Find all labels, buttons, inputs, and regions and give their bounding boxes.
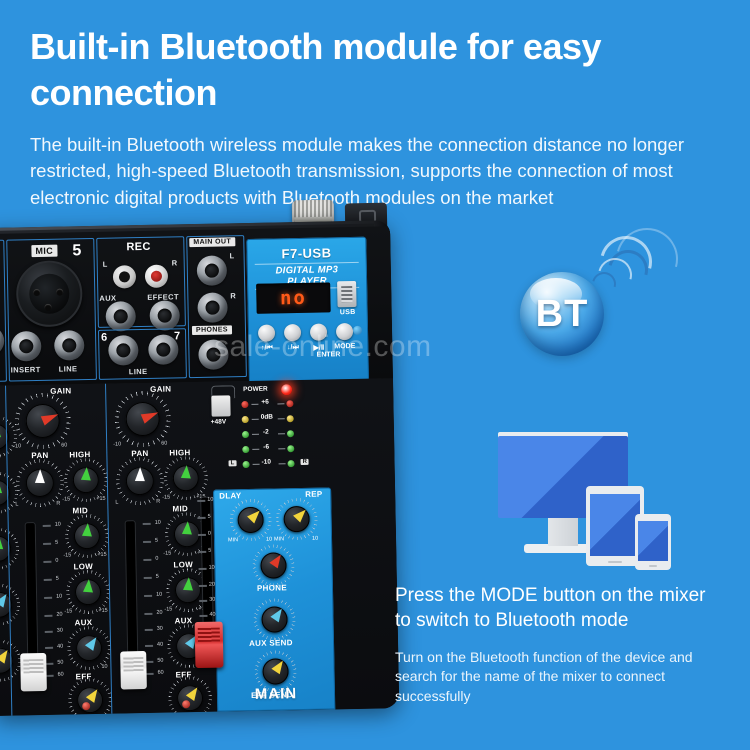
main-out-label: MAIN OUT <box>189 237 235 247</box>
meter-left-led-minus2 <box>242 431 249 438</box>
rec-label: REC <box>126 241 151 253</box>
compatible-devices-illustration <box>498 432 676 570</box>
control-surface: HIGH MID LOW AUX <box>0 378 399 716</box>
repeat-label: REP <box>305 490 323 499</box>
tablet-screen <box>590 494 640 556</box>
meter-label-0db: 0dB <box>261 414 273 421</box>
audio-mixer-device: 4 MIC 5 INSERT LINE REC L R AUX EFFECT <box>0 220 399 716</box>
meter-right-badge: R <box>300 459 308 465</box>
instruction-secondary: Turn on the Bluetooth function of the de… <box>395 648 715 706</box>
bluetooth-badge: BT <box>520 272 604 356</box>
meter-label-minus6: -6 <box>263 444 269 451</box>
channel-strip-1: GAIN -10 60 PAN L R HIGH -15 <box>5 384 112 716</box>
meter-right-led-plus6 <box>286 400 293 407</box>
high-max-tick: +15 <box>96 496 105 502</box>
mp3-display: no <box>256 282 331 313</box>
product-feature-image: Built-in Bluetooth module for easy conne… <box>0 0 750 750</box>
pan-left-tick: L <box>15 501 18 507</box>
mp3-bluetooth-module: F7-USB DIGITAL MP3 PLAYER no USB ↑/⏮ ↓/⏭… <box>246 237 369 385</box>
module-model-name: F7-USB <box>246 245 366 262</box>
next-track-button[interactable] <box>284 324 301 341</box>
mid-max-tick: +15 <box>97 552 106 558</box>
repeat-max-tick: 10 <box>312 536 318 542</box>
gain-min-tick: -10 <box>13 443 21 449</box>
meter-left-led-plus6 <box>241 401 248 408</box>
phantom-power-switch[interactable] <box>211 395 230 416</box>
smartphone-icon <box>635 514 671 570</box>
meter-left-led-minus10 <box>243 461 250 468</box>
meter-left-badge: L <box>229 460 237 466</box>
meter-right-led-minus10 <box>288 460 295 467</box>
high-min-tick: -15 <box>62 496 70 502</box>
rec-right-label: R <box>172 258 178 267</box>
bluetooth-badge-label: BT <box>520 272 604 356</box>
bluetooth-indicator-icon <box>353 326 362 335</box>
enter-label: ENTER <box>308 351 348 359</box>
phone-label: PHONE <box>257 583 287 593</box>
smartphone-screen <box>638 521 668 561</box>
channel-5-number: 5 <box>72 242 82 260</box>
prev-track-button[interactable] <box>258 324 275 341</box>
pan-left-tick: L <box>115 500 118 506</box>
meter-label-minus2: -2 <box>263 429 269 436</box>
gain-max-tick: 60 <box>61 442 67 448</box>
mode-button[interactable] <box>336 323 353 340</box>
gain-min-tick: -10 <box>113 441 121 447</box>
mp3-display-value: no <box>280 287 307 310</box>
meter-left-led-minus6 <box>242 446 249 453</box>
mode-button-label: MODE <box>328 343 361 351</box>
monitor-stand <box>548 518 578 546</box>
channel-6-number: 6 <box>101 332 108 344</box>
peak-label: PEAK <box>74 714 98 716</box>
page-subcopy: The built-in Bluetooth wireless module m… <box>30 132 720 211</box>
meter-right-led-minus2 <box>287 430 294 437</box>
meter-right-led-minus6 <box>287 445 294 452</box>
mic-label: MIC <box>31 245 57 257</box>
aux-max-tick: 10 <box>101 664 107 670</box>
delay-label: DLAY <box>219 491 241 500</box>
aux-out-label: AUX <box>99 294 116 303</box>
peak-label: PEAK <box>174 712 198 716</box>
line-label-ch67: LINE <box>129 367 148 376</box>
page-headline: Built-in Bluetooth module for easy conne… <box>30 24 670 116</box>
effects-main-panel: DLAY MIN 10 REP MIN 10 PHONE <box>213 487 335 711</box>
main-label: MAIN <box>217 684 335 703</box>
power-led-label: POWER <box>243 386 268 393</box>
delay-min-tick: MIN <box>228 537 238 543</box>
phones-label: PHONES <box>192 325 232 335</box>
meter-label-plus6: +6 <box>261 399 269 406</box>
pan-right-tick: R <box>56 501 60 507</box>
main-out-right-label: R <box>230 291 236 300</box>
main-out-left-label: L <box>229 251 234 260</box>
meter-right-led-0db <box>287 415 294 422</box>
connector-panel: 4 MIC 5 INSERT LINE REC L R AUX EFFECT <box>0 226 393 386</box>
gain-max-tick: 60 <box>161 441 167 447</box>
pan-right-tick: R <box>156 499 160 505</box>
high-min-tick: -15 <box>162 495 170 501</box>
insert-label: INSERT <box>11 365 41 375</box>
fader-scale: 10 5 0 5 10 20 30 40 50 60 <box>143 523 172 681</box>
delay-max-tick: 10 <box>266 537 272 543</box>
master-fader-handle[interactable] <box>195 622 224 669</box>
instruction-primary: Press the MODE button on the mixer to sw… <box>395 583 725 634</box>
usb-port-label: USB <box>336 309 360 316</box>
play-pause-button[interactable] <box>310 323 327 340</box>
channel-fader-handle[interactable] <box>20 653 47 691</box>
rec-left-label: L <box>103 260 108 269</box>
channel-fader-handle[interactable] <box>120 651 147 689</box>
repeat-min-tick: MIN <box>274 536 284 542</box>
phantom-power-label: +48V <box>211 418 227 425</box>
line-label-ch5: LINE <box>59 364 78 373</box>
fader-scale: 10 5 0 5 10 20 30 40 50 60 <box>43 524 72 682</box>
low-max-tick: +15 <box>98 608 107 614</box>
aux-send-label: AUX SEND <box>249 638 293 648</box>
meter-left-led-0db <box>242 416 249 423</box>
usb-port[interactable] <box>337 281 356 307</box>
meter-label-minus10: -10 <box>261 459 271 466</box>
power-led <box>281 384 292 395</box>
